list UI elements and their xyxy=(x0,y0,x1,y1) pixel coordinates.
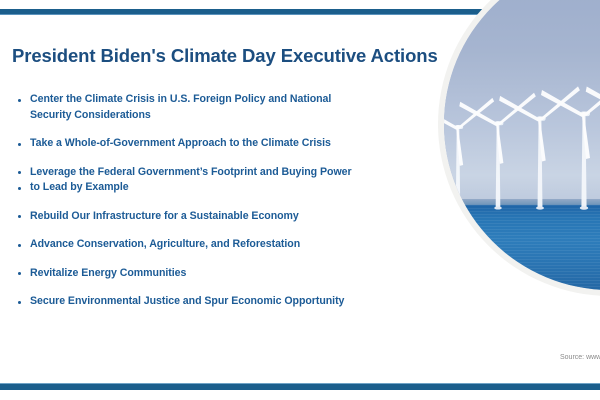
list-item-label: Take a Whole-of-Government Approach to t… xyxy=(30,136,432,152)
bullet-list: Center the Climate Crisis in U.S. Foreig… xyxy=(12,92,432,310)
list-item: Leverage the Federal Government’s Footpr… xyxy=(12,165,432,181)
photo-inner xyxy=(444,0,600,290)
list-item: Revitalize Energy Communities xyxy=(12,266,432,282)
list-item-label: Rebuild Our Infrastructure for a Sustain… xyxy=(30,209,432,225)
list-item: Rebuild Our Infrastructure for a Sustain… xyxy=(12,209,432,225)
offshore-wind-farm-photo xyxy=(444,0,600,290)
source-caption: Source: www. xyxy=(560,354,600,361)
list-item-label: Center the Climate Crisis in U.S. Foreig… xyxy=(30,92,432,108)
wind-turbines-icon xyxy=(444,0,600,290)
slide-canvas: President Biden's Climate Day Executive … xyxy=(0,0,600,400)
page-title: President Biden's Climate Day Executive … xyxy=(12,45,462,66)
list-item: Take a Whole-of-Government Approach to t… xyxy=(12,136,432,152)
list-item: Center the Climate Crisis in U.S. Foreig… xyxy=(12,92,432,123)
list-item-label: Advance Conservation, Agriculture, and R… xyxy=(30,237,432,253)
list-item-label: Leverage the Federal Government’s Footpr… xyxy=(30,165,432,181)
list-item-label-continued: Security Considerations xyxy=(30,108,432,124)
list-item: to Lead by Example xyxy=(12,180,432,196)
bottom-divider-rule xyxy=(0,383,600,390)
list-item-label: to Lead by Example xyxy=(30,180,432,196)
list-item-label: Revitalize Energy Communities xyxy=(30,266,432,282)
top-divider-rule xyxy=(0,9,500,15)
list-item: Secure Environmental Justice and Spur Ec… xyxy=(12,294,432,310)
list-item: Advance Conservation, Agriculture, and R… xyxy=(12,237,432,253)
list-item-label: Secure Environmental Justice and Spur Ec… xyxy=(30,294,432,310)
